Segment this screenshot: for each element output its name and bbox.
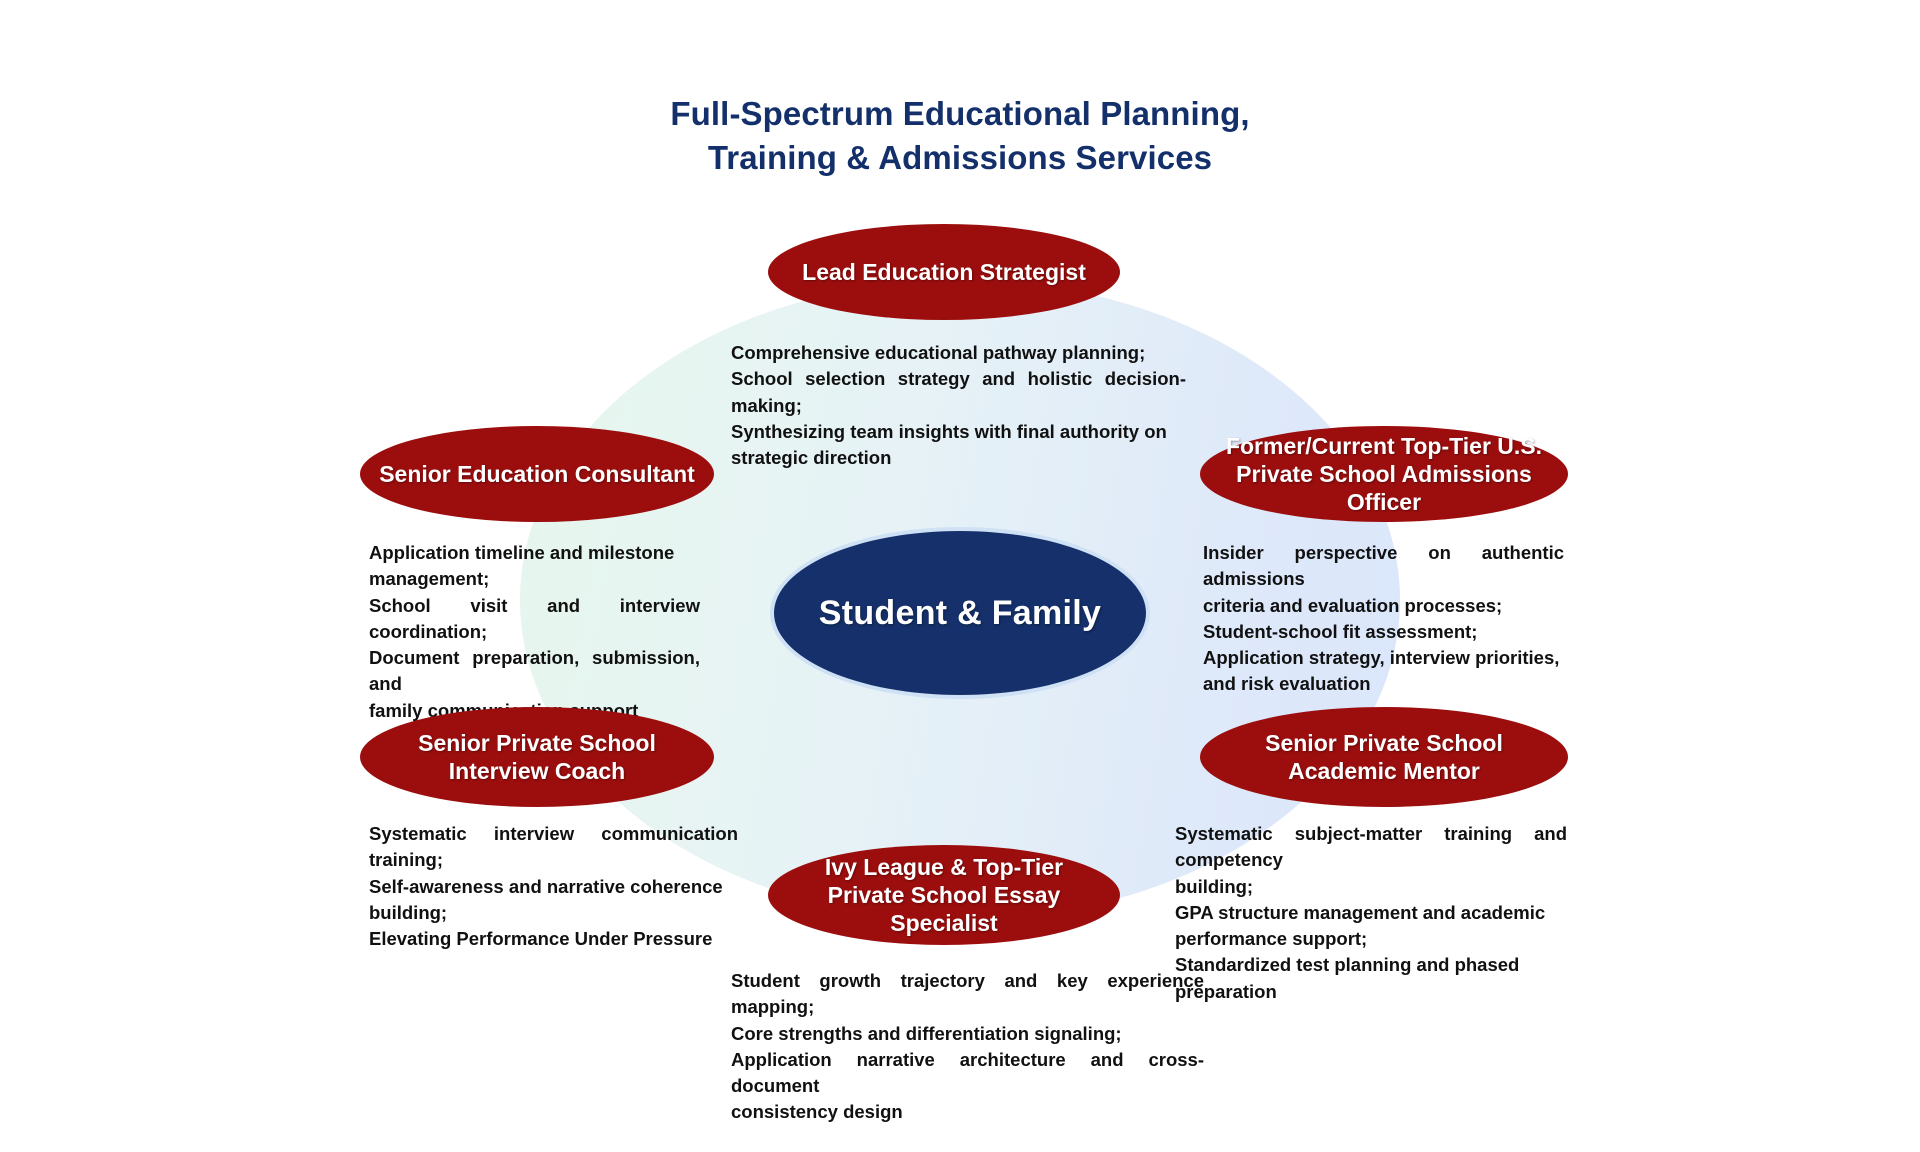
role-description-mentor-line-4: performance support; xyxy=(1175,926,1567,952)
role-label-interview-line-1: Senior Private School xyxy=(418,730,656,756)
role-description-admissions: Insider perspective on authentic admissi… xyxy=(1203,540,1564,698)
role-description-lead-line-4: strategic direction xyxy=(731,445,1186,471)
role-label-mentor: Senior Private School Academic Mentor xyxy=(1251,729,1517,785)
role-description-admissions-line-5: and risk evaluation xyxy=(1203,671,1564,697)
role-description-interview-line-3: building; xyxy=(369,900,738,926)
role-node-interview-coach: Senior Private School Interview Coach xyxy=(360,707,714,807)
role-label-essay: Ivy League & Top-Tier Private School Ess… xyxy=(768,853,1120,937)
page-title-line-2: Training & Admissions Services xyxy=(0,136,1920,180)
role-node-academic-mentor: Senior Private School Academic Mentor xyxy=(1200,707,1568,807)
role-description-consultant: Application timeline and milestone manag… xyxy=(369,540,700,724)
diagram-canvas: Full-Spectrum Educational Planning, Trai… xyxy=(0,0,1920,1152)
role-description-essay-line-2: Core strengths and differentiation signa… xyxy=(731,1021,1204,1047)
role-label-mentor-line-1: Senior Private School xyxy=(1265,730,1503,756)
role-description-admissions-line-3: Student-school fit assessment; xyxy=(1203,619,1564,645)
role-description-interview: Systematic interview communication train… xyxy=(369,821,738,952)
role-description-lead-line-1: Comprehensive educational pathway planni… xyxy=(731,340,1186,366)
role-label-essay-line-1: Ivy League & Top-Tier xyxy=(825,854,1063,880)
role-label-interview: Senior Private School Interview Coach xyxy=(404,729,670,785)
role-description-lead-line-3: Synthesizing team insights with final au… xyxy=(731,419,1186,445)
role-description-admissions-line-1: Insider perspective on authentic admissi… xyxy=(1203,540,1564,593)
role-description-interview-line-4: Elevating Performance Under Pressure xyxy=(369,926,738,952)
role-description-admissions-line-2: criteria and evaluation processes; xyxy=(1203,593,1564,619)
role-label-essay-line-2: Private School Essay Specialist xyxy=(828,882,1061,936)
page-title: Full-Spectrum Educational Planning, Trai… xyxy=(0,92,1920,180)
role-description-essay-line-4: consistency design xyxy=(731,1099,1204,1125)
role-description-consultant-line-4: Document preparation, submission, and xyxy=(369,645,700,698)
role-description-mentor-line-3: GPA structure management and academic xyxy=(1175,900,1567,926)
role-description-interview-line-2: Self-awareness and narrative coherence xyxy=(369,874,738,900)
role-node-lead-education-strategist: Lead Education Strategist xyxy=(768,224,1120,320)
role-description-lead: Comprehensive educational pathway planni… xyxy=(731,340,1186,471)
role-description-mentor-line-1: Systematic subject-matter training and c… xyxy=(1175,821,1567,874)
role-label-mentor-line-2: Academic Mentor xyxy=(1288,758,1480,784)
center-node-student-family: Student & Family xyxy=(770,527,1150,699)
role-description-essay: Student growth trajectory and key experi… xyxy=(731,968,1204,1126)
role-label-interview-line-2: Interview Coach xyxy=(449,758,625,784)
role-label-admissions-line-2: Private School Admissions Officer xyxy=(1236,461,1532,515)
role-node-senior-education-consultant: Senior Education Consultant xyxy=(360,426,714,522)
role-description-essay-line-1: Student growth trajectory and key experi… xyxy=(731,968,1204,1021)
role-node-essay-specialist: Ivy League & Top-Tier Private School Ess… xyxy=(768,845,1120,945)
center-node-label: Student & Family xyxy=(819,594,1102,633)
role-label-consultant: Senior Education Consultant xyxy=(365,460,709,488)
role-label-admissions-line-1: Former/Current Top-Tier U.S. xyxy=(1226,433,1542,459)
role-description-mentor-line-2: building; xyxy=(1175,874,1567,900)
role-description-consultant-line-3: School visit and interview coordination; xyxy=(369,593,700,646)
role-description-essay-line-3: Application narrative architecture and c… xyxy=(731,1047,1204,1100)
role-node-admissions-officer: Former/Current Top-Tier U.S. Private Sch… xyxy=(1200,426,1568,522)
role-description-mentor: Systematic subject-matter training and c… xyxy=(1175,821,1567,1005)
page-title-line-1: Full-Spectrum Educational Planning, xyxy=(0,92,1920,136)
role-label-lead: Lead Education Strategist xyxy=(788,258,1100,286)
role-description-lead-line-2: School selection strategy and holistic d… xyxy=(731,366,1186,419)
role-description-interview-line-1: Systematic interview communication train… xyxy=(369,821,738,874)
role-description-consultant-line-1: Application timeline and milestone xyxy=(369,540,700,566)
role-description-consultant-line-2: management; xyxy=(369,566,700,592)
role-description-mentor-line-5: Standardized test planning and phased pr… xyxy=(1175,952,1567,1005)
role-label-admissions: Former/Current Top-Tier U.S. Private Sch… xyxy=(1200,432,1568,516)
role-description-admissions-line-4: Application strategy, interview prioriti… xyxy=(1203,645,1564,671)
